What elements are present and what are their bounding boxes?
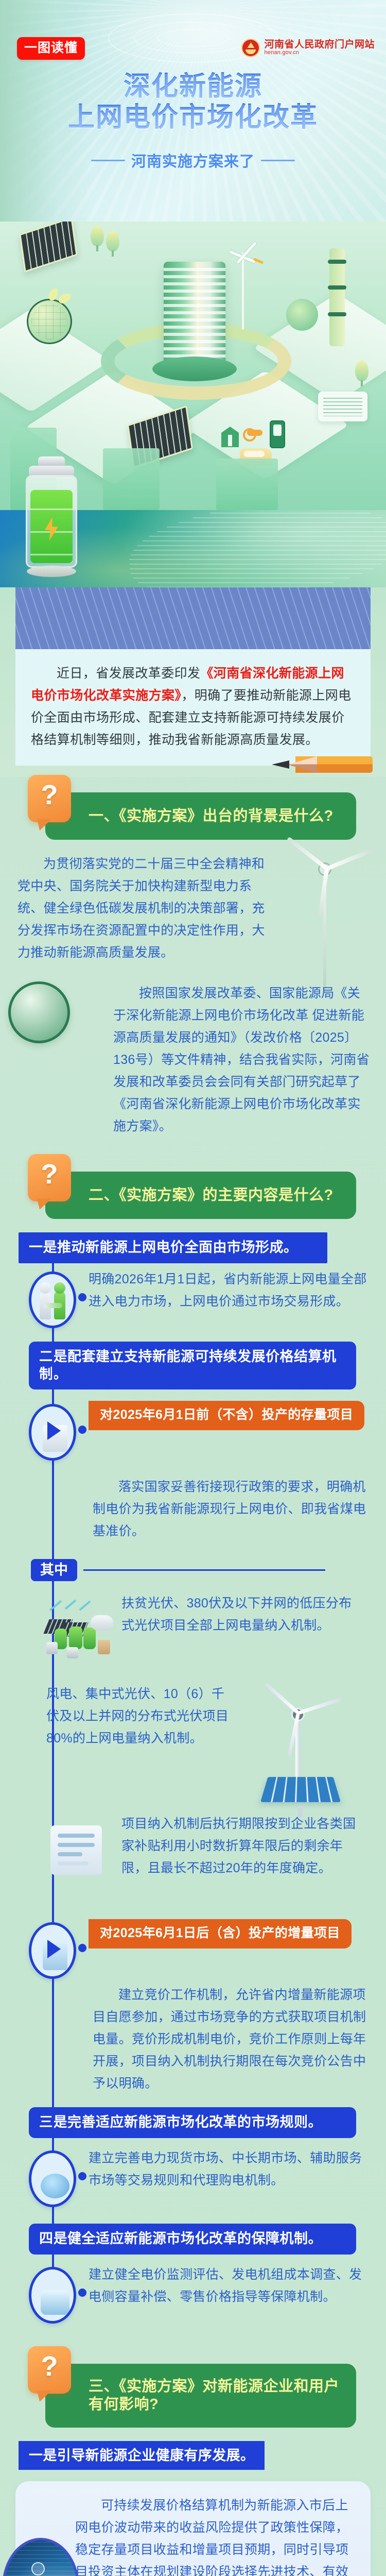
sub-label-rule: [83, 1569, 325, 1571]
question-glyph: ?: [28, 1160, 71, 1188]
question-mark-icon: ?: [28, 1154, 71, 1201]
document-card: [318, 392, 367, 421]
sub-item-2-text: 风电、集中式光伏、10（6）千伏及以上并网的分布式光伏项目80%的上网电量纳入机…: [46, 1683, 237, 1750]
section-2-point-2-tag-2: 对2025年6月1日后（含）投产的增量项目: [89, 1919, 352, 1948]
section-2-point-1-body: 明确2026年1月1日起，省内新能源上网电量全部进入电力市场，上网电价通过市场交…: [89, 1268, 373, 1313]
document-icon: [46, 1822, 113, 1879]
hero-banner: 一图读懂 河南省人民政府门户网站 henan.gov.cn 深化新能源 上网电价…: [0, 0, 386, 222]
page-title: 深化新能源 上网电价市场化改革: [0, 71, 386, 133]
section-1-paragraph-1: 为贯彻落实党的二十届三中全会精神和党中央、国务院关于加快构建新型电力系统、健全绿…: [17, 853, 268, 964]
iso-column: [103, 448, 160, 510]
section-1-heading: ? 一、《实施方案》出台的背景是什么?: [29, 792, 356, 840]
solar-farm-photo: [15, 587, 371, 649]
timeline-arrow: [47, 1421, 61, 1440]
section-1: ? 一、《实施方案》出台的背景是什么? 为贯彻落实党的二十届三中全会精神和党中央…: [0, 777, 386, 1143]
section-2-point-4-label: 四是健全适应新能源市场化改革的保障机制。: [29, 2224, 356, 2255]
stack-band: [328, 285, 346, 290]
analytics-icon: [2, 2538, 79, 2576]
hero-ring-3: [157, 29, 229, 47]
section-3-point-1-body: 可持续发展价格结算机制为新能源入市后上网电价波动带来的收益风险提供了政策性保障，…: [31, 2495, 355, 2576]
wind-turbine-pole: [242, 252, 244, 330]
intro-text-before: 近日，省发展改革委印发: [57, 666, 200, 681]
gov-site-url: henan.gov.cn: [264, 50, 375, 56]
timeline-node-4: 建立完善电力现货市场、中长期市场、辅助服务市场等交易规则和代理购电机制。: [0, 2147, 386, 2214]
section-1-body-1: 为贯彻落实党的二十届三中全会精神和党中央、国务院关于加快构建新型电力系统、健全绿…: [0, 840, 386, 969]
section-3-heading-text: 三、《实施方案》对新能源企业和用户有何影响?: [45, 2378, 356, 2414]
title-line-2: 上网电价市场化改革: [0, 102, 386, 133]
section-1-heading-text: 一、《实施方案》出台的背景是什么?: [45, 807, 343, 825]
section-1-heading-bar: 一、《实施方案》出台的背景是什么?: [45, 792, 356, 840]
handshake-icon: [29, 1272, 76, 1328]
globe-icon: [27, 299, 72, 344]
sub-item-3: 项目纳入机制后执行期限按到企业各类国家补贴利用小时数折算年限后的剩余年限，且最长…: [31, 1813, 371, 1906]
sub-item-1-text: 扶贫光伏、380伏及以下并网的低压分布式光伏项目全部上网电量纳入机制。: [121, 1592, 358, 1637]
iso-column: [216, 459, 278, 510]
section-2-point-2-body-wrap: 落实国家妥善衔接现行政策的要求，明确机制电价为我省新能源现行上网电价、即我省煤电…: [0, 1467, 386, 1546]
solar-panel-icon: [19, 222, 77, 273]
smokestack: [329, 248, 345, 346]
section-2-heading-text: 二、《实施方案》的主要内容是什么?: [45, 1187, 343, 1205]
section-2-timeline: 明确2026年1月1日起，省内新能源上网电量全部进入电力市场，上网电价通过市场交…: [0, 1263, 386, 2331]
timeline-node-5: 建立健全电价监测评估、发电机组成本调查、发电侧容量补偿、零售价格指导等保障机制。: [0, 2264, 386, 2331]
section-1-paragraph-2: 按照国家发展改革委、国家能源局《关于深化新能源上网电价市场化改革 促进新能源高质…: [113, 982, 371, 1138]
timeline-node-3: 对2025年6月1日后（含）投产的增量项目: [0, 1919, 386, 1971]
section-2-point-1-label: 一是推动新能源上网电价全面由市场形成。: [19, 1232, 327, 1263]
building-tower: [164, 262, 225, 370]
section-3-heading: ? 三、《实施方案》对新能源企业和用户有何影响?: [29, 2364, 356, 2428]
sub-item-3-text: 项目纳入机制后执行期限按到企业各类国家补贴利用小时数折算年限后的剩余年限，且最长…: [121, 1813, 358, 1879]
section-2-point-2-tag: 对2025年6月1日前（不含）投产的存量项目: [89, 1401, 364, 1430]
tree-icon: [355, 361, 369, 381]
question-glyph: ?: [28, 2352, 71, 2380]
guarantee-icon: [29, 2267, 76, 2324]
title-line-1: 深化新能源: [0, 71, 386, 102]
timeline-node-1: 明确2026年1月1日起，省内新能源上网电量全部进入电力市场，上网电价通过市场交…: [0, 1268, 386, 1330]
subtitle-dash-left: [91, 160, 125, 161]
section-2-point-2-body: 落实国家妥善衔接现行政策的要求，明确机制电价为我省新能源现行上网电价、即我省煤电…: [93, 1476, 371, 1543]
timeline-bullet: [78, 1293, 86, 1301]
key-icon: [247, 430, 262, 436]
read-badge: 一图读懂: [17, 37, 85, 60]
battery-foot: [27, 566, 76, 577]
gov-site-name: 河南省人民政府门户网站: [264, 40, 375, 50]
page-subtitle: 河南实施方案来了: [0, 149, 386, 171]
section-2-point-4-body: 建立健全电价监测评估、发电机组成本调查、发电侧容量补偿、零售价格指导等保障机制。: [89, 2264, 373, 2308]
question-glyph: ?: [28, 781, 71, 809]
pencil-icon: [265, 753, 373, 777]
intro-paragraph: 近日，省发展改革委印发《河南省深化新能源上网电价市场化改革实施方案》，明确了要推…: [31, 663, 355, 751]
section-2-point-2-label: 二是配套建立支持新能源可持续发展价格结算机制。: [29, 1342, 356, 1390]
timeline-bullet: [78, 1944, 86, 1952]
sub-item-1: 扶贫光伏、380伏及以下并网的低压分布式光伏项目全部上网电量纳入机制。: [31, 1592, 371, 1670]
section-3-point-1-label: 一是引导新能源企业健康有序发展。: [19, 2441, 265, 2470]
energy-storage-icon: [46, 1602, 113, 1658]
sub-item-2: 风电、集中式光伏、10（6）千伏及以上并网的分布式光伏项目80%的上网电量纳入机…: [31, 1683, 371, 1802]
turbine-blade-tip: [253, 258, 264, 264]
tree-icon: [106, 231, 119, 251]
section-3-heading-bar: 三、《实施方案》对新能源企业和用户有何影响?: [45, 2364, 356, 2428]
battery-illustration: [15, 456, 87, 585]
section-3: ? 三、《实施方案》对新能源企业和用户有何影响? 一是引导新能源企业健康有序发展…: [0, 2348, 386, 2576]
section-2-point-3-body: 建立完善电力现货市场、中长期市场、辅助服务市场等交易规则和代理购电机制。: [89, 2147, 373, 2192]
question-mark-icon: ?: [28, 775, 71, 822]
gov-logo-text: 河南省人民政府门户网站 henan.gov.cn: [264, 40, 375, 56]
subtitle-dash-right: [261, 160, 295, 161]
subtitle-text: 河南实施方案来了: [131, 149, 255, 171]
timeline-node-2: 对2025年6月1日前（不含）投产的存量项目: [0, 1401, 386, 1463]
intro-section: 近日，省发展改革委印发《河南省深化新能源上网电价市场化改革实施方案》，明确了要推…: [0, 510, 386, 777]
section-2-heading-bar: 二、《实施方案》的主要内容是什么?: [45, 1172, 356, 1219]
infographic-page: 一图读懂 河南省人民政府门户网站 henan.gov.cn 深化新能源 上网电价…: [0, 0, 386, 2576]
timeline-bullet: [78, 2172, 86, 2180]
section-2-point-2-body-2-wrap: 建立竞价工作机制，允许省内增量新能源项目自愿参加，通过市场竞争的方式获取项目机制…: [0, 1975, 386, 2098]
sub-label-qizhong: 其中: [31, 1559, 77, 1581]
globe-illustration: [8, 981, 70, 1043]
stack-band: [328, 312, 346, 316]
section-1-body-2: 按照国家发展改革委、国家能源局《关于深化新能源上网电价市场化改革 促进新能源高质…: [0, 969, 386, 1143]
gear-icon: [286, 299, 318, 331]
battery-body: [26, 475, 77, 568]
intro-card: 近日，省发展改革委印发《河南省深化新能源上网电价市场化改革实施方案》，明确了要推…: [15, 649, 371, 766]
phone-icon: [270, 420, 285, 448]
timeline-arrow: [47, 1940, 61, 1958]
tree-icon: [91, 226, 104, 246]
tower-base: [152, 357, 237, 381]
stack-band: [328, 260, 346, 264]
section-2-heading: ? 二、《实施方案》的主要内容是什么?: [29, 1172, 356, 1219]
gov-logo[interactable]: 河南省人民政府门户网站 henan.gov.cn: [241, 39, 375, 57]
national-emblem-icon: [241, 39, 260, 57]
section-3-point-1-card: 可持续发展价格结算机制为新能源入市后上网电价波动带来的收益风险提供了政策性保障，…: [15, 2481, 371, 2576]
market-rules-icon: [29, 2150, 76, 2207]
section-2: ? 二、《实施方案》的主要内容是什么? 一是推动新能源上网电价全面由市场形成。 …: [0, 1156, 386, 2331]
timeline-bullet: [78, 2289, 86, 2297]
section-2-point-3-label: 三是完善适应新能源市场化改革的市场规则。: [29, 2107, 356, 2138]
section-2-point-2-body-2: 建立竞价工作机制，允许省内增量新能源项目自愿参加，通过市场竞争的方式获取项目机制…: [93, 1984, 371, 2095]
timeline-bullet: [78, 1426, 86, 1434]
question-mark-icon: ?: [28, 2346, 71, 2394]
wind-solar-icon: [246, 1678, 364, 1817]
sub-items-block: 其中: [31, 1559, 371, 1906]
